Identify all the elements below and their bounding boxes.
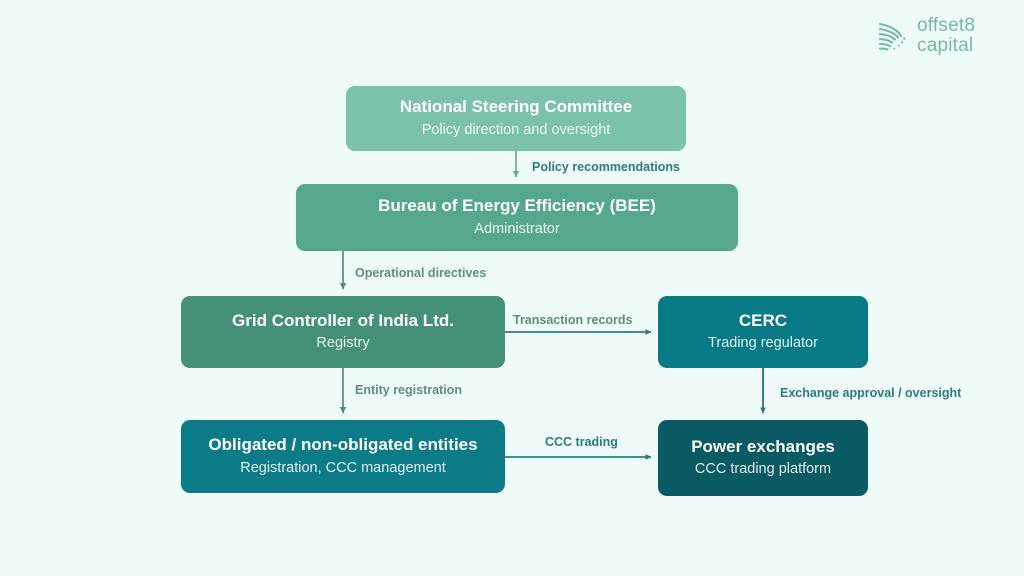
node-bureau-of-energy-efficiency[interactable]: Bureau of Energy Efficiency (BEE) Admini… (296, 184, 738, 251)
edge-label-transaction-records: Transaction records (513, 313, 633, 327)
edge-label-operational-directives: Operational directives (355, 266, 486, 280)
node-grid-controller-of-india[interactable]: Grid Controller of India Ltd. Registry (181, 296, 505, 368)
node-title: Grid Controller of India Ltd. (232, 311, 454, 331)
node-title: National Steering Committee (400, 97, 632, 117)
node-subtitle: Registry (316, 334, 369, 353)
node-subtitle: Registration, CCC management (240, 459, 446, 478)
node-subtitle: Trading regulator (708, 334, 818, 353)
edge-label-policy-recommendations: Policy recommendations (532, 160, 680, 174)
edge-label-entity-registration: Entity registration (355, 383, 462, 397)
diagram-canvas: offset8 capital Policy re (0, 0, 1024, 576)
node-subtitle: Administrator (474, 220, 559, 239)
node-title: Power exchanges (691, 437, 835, 457)
node-title: Obligated / non-obligated entities (208, 435, 477, 455)
edge-label-exchange-approval-oversight: Exchange approval / oversight (780, 386, 961, 400)
node-obligated-non-obligated-entities[interactable]: Obligated / non-obligated entities Regis… (181, 420, 505, 493)
fingerprint-arcs-icon (876, 19, 910, 53)
brand-name-line2: capital (917, 36, 975, 56)
node-power-exchanges[interactable]: Power exchanges CCC trading platform (658, 420, 868, 496)
brand-logo: offset8 capital (876, 16, 975, 56)
brand-name-line1: offset8 (917, 16, 975, 36)
node-national-steering-committee[interactable]: National Steering Committee Policy direc… (346, 86, 686, 151)
node-subtitle: Policy direction and oversight (422, 121, 611, 140)
edge-label-ccc-trading: CCC trading (545, 435, 618, 449)
node-cerc[interactable]: CERC Trading regulator (658, 296, 868, 368)
node-title: Bureau of Energy Efficiency (BEE) (378, 196, 656, 216)
node-subtitle: CCC trading platform (695, 460, 831, 479)
node-title: CERC (739, 311, 787, 331)
brand-wordmark: offset8 capital (917, 16, 975, 56)
